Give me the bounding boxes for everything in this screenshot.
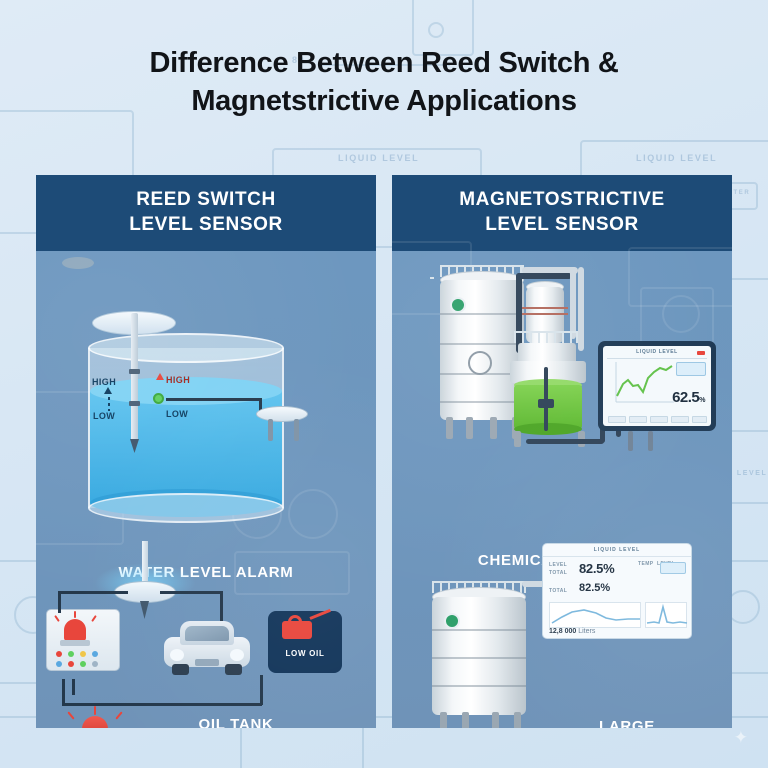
page-title-line-2: Magnetstrictive Applications [60,82,708,120]
low-oil-label: LOW OIL [268,649,342,658]
hmi-chip [676,362,706,376]
label-high-right: HIGH [166,375,190,385]
car-illustration [164,619,250,675]
display-footer: 12,8 000 Liters [549,628,595,635]
hmi-trend-chart [608,360,676,410]
hmi-screen: LIQUID LEVEL 62.5% [603,346,711,426]
display-peak-chart [646,603,688,629]
tank-level-display[interactable]: LIQUID LEVEL LEVEL TOTAL 82.5% TEMP LEVE… [542,543,692,639]
display-trend-chart [550,603,642,629]
caption-water-level-alarm: WATER LEVEL ALARM [36,563,376,583]
panel-reed-switch-header-line-1: REED SWITCH [136,188,276,213]
caption-oil-tank-line-1: OIL TANK [136,715,336,728]
caption-large-storage-tank: LARGE STORAGE TANK [532,717,722,728]
panel-reed-switch: REED SWITCH LEVEL SENSOR [36,175,376,728]
label-low-right: LOW [166,409,188,419]
page-title-line-1: Difference Between Reed Switch & [60,44,708,82]
display-label-total: TOTAL [549,570,567,576]
display-value-level: 82.5% [579,561,614,576]
display-label-temp: TEMP [638,561,654,567]
label-high-left: HIGH [92,377,116,387]
panel-reed-switch-body: HIGH LOW HIGH LOW WATER LEVEL ALARM [36,251,376,728]
sparkle-decoration: ✦ [734,728,748,748]
panel-magnetostrictive: MAGNETOSTRICTIVE LEVEL SENSOR [392,175,732,728]
reed-sensor-pod [256,406,308,422]
caption-oil-tank-monitoring: OIL TANK MONITORING [136,715,336,728]
display-header: LIQUID LEVEL [543,544,691,557]
panel-magnetostrictive-header: MAGNETOSTRICTIVE LEVEL SENSOR [392,175,732,251]
alarm-beacon-icon [82,716,108,728]
display-label-level: LEVEL [549,562,567,568]
panel-magnetostrictive-header-line-1: MAGNETOSTRICTIVE [459,188,665,213]
display-chip [660,562,686,574]
display-value-total: 82.5% [579,582,610,594]
infographic-canvas: 80 LIQUID LEVEL LIQUID LEVEL LEVEL ENTER… [0,0,768,768]
hmi-value: 62.5% [672,389,705,406]
label-low-left: LOW [93,411,115,421]
caption-storage-line-1: LARGE [532,717,722,728]
hmi-screen-title: LIQUID LEVEL [607,349,707,355]
oil-can-icon [282,621,312,639]
status-indicator [697,351,705,355]
low-oil-card [268,611,342,673]
panel-magnetostrictive-body: LIQUID LEVEL 62.5% [392,251,732,728]
hmi-monitor[interactable]: LIQUID LEVEL 62.5% [598,341,716,431]
siren-icon [64,619,86,641]
display-label-level-2: LEVEL [657,561,675,567]
alarm-control-box [46,609,120,671]
display-label-total-2: TOTAL [549,588,567,594]
water-tank-illustration [88,333,284,523]
panel-magnetostrictive-header-line-2: LEVEL SENSOR [485,213,639,238]
panel-reed-switch-header: REED SWITCH LEVEL SENSOR [36,175,376,251]
page-title: Difference Between Reed Switch & Magnets… [0,44,768,121]
caption-chemical-reactor: CHEMICAL REACTOR [392,551,732,571]
panel-reed-switch-header-line-2: LEVEL SENSOR [129,213,283,238]
